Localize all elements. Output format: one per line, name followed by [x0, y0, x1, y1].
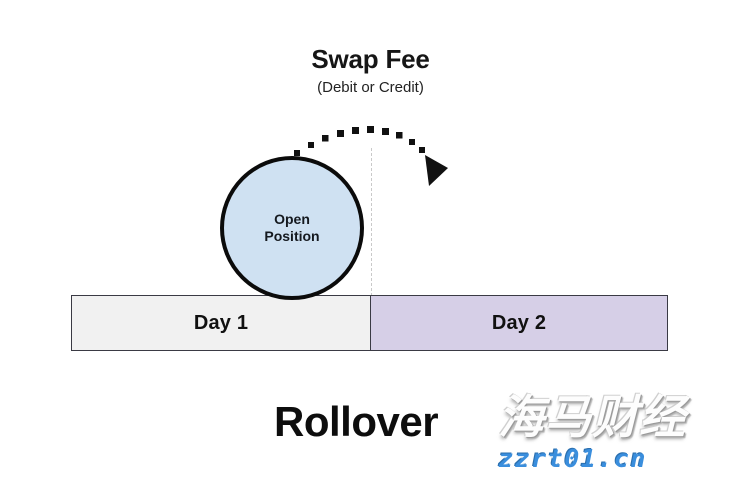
watermark-brand: 海马财经	[498, 392, 736, 442]
rollover-caption: Rollover	[274, 398, 438, 446]
arrow-head-icon	[425, 155, 448, 186]
watermark: 海马财经 zzrt01.cn	[498, 392, 736, 484]
day-2-label: Day 2	[492, 312, 546, 335]
open-position-label: Open Position	[264, 211, 319, 245]
title-block: Swap Fee (Debit or Credit)	[0, 44, 741, 98]
page-subtitle: (Debit or Credit)	[0, 78, 741, 98]
page-title: Swap Fee	[0, 44, 741, 74]
timeline-segment-day-1: Day 1	[72, 296, 371, 350]
open-position-circle: Open Position	[220, 156, 364, 300]
day-boundary-dashed-line	[371, 148, 372, 296]
arc-dots	[294, 126, 425, 156]
timeline-segment-day-2: Day 2	[371, 296, 667, 350]
timeline-bar: Day 1 Day 2	[71, 295, 668, 351]
diagram-canvas: Swap Fee (Debit or Credit) Open Position…	[0, 0, 741, 486]
day-1-label: Day 1	[194, 312, 248, 335]
watermark-url: zzrt01.cn	[498, 444, 736, 473]
